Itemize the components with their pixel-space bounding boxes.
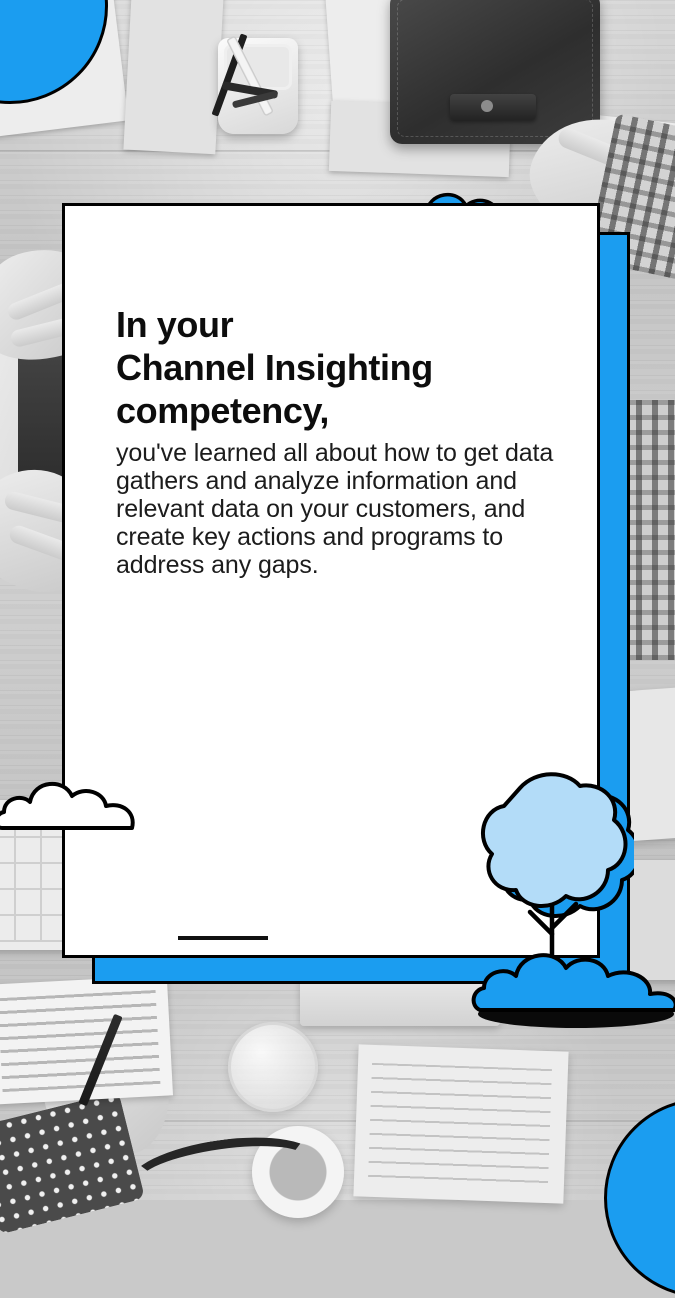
card-text-block: In your Channel Insighting competency, y… [116, 303, 557, 579]
paper-sheet [123, 0, 224, 154]
cloud-left-icon [0, 772, 140, 834]
page-title: In your Channel Insighting competency, [116, 303, 557, 432]
cloud-bush-icon [470, 932, 675, 1016]
notebook-stud [481, 100, 493, 112]
notebook-strap [450, 94, 536, 120]
notepad [353, 1044, 568, 1203]
divider-rule [178, 936, 268, 940]
leather-notebook [390, 0, 600, 144]
body-paragraph: you've learned all about how to get data… [116, 439, 557, 579]
drinking-glass [228, 1022, 318, 1112]
